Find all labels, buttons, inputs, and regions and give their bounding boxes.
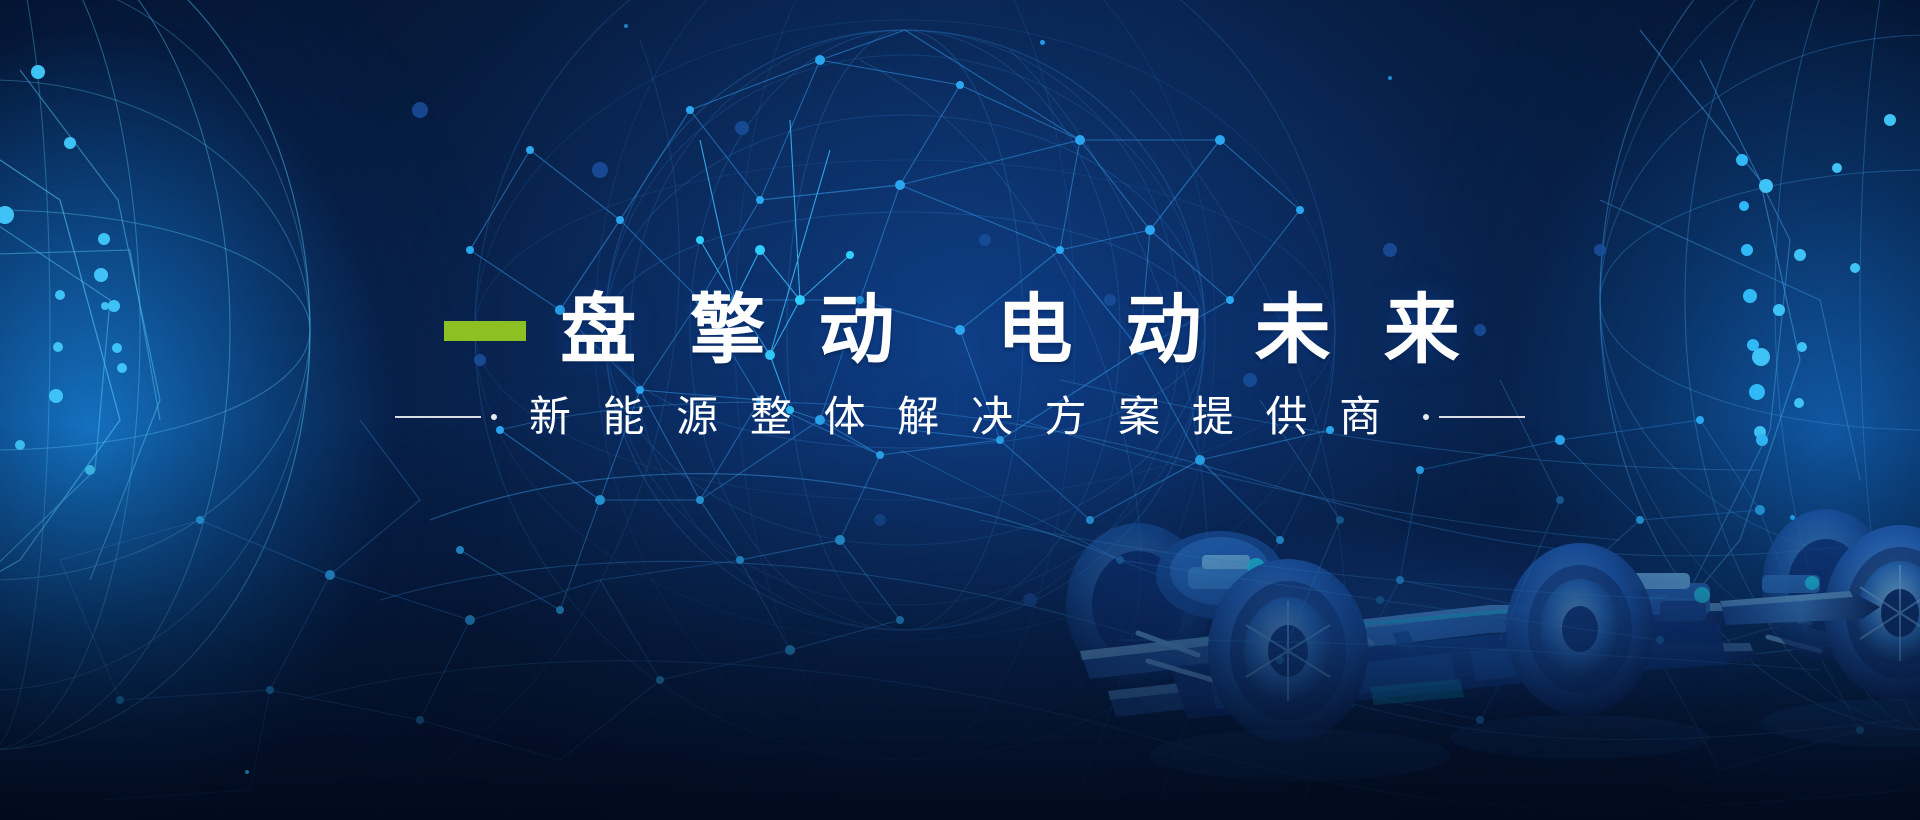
particle-dot bbox=[1388, 76, 1392, 80]
particle-dot bbox=[624, 24, 628, 28]
rule-bar-right bbox=[1439, 416, 1525, 418]
subtitle-row: 新 能 源 整 体 解 决 方 案 提 供 商 bbox=[0, 396, 1920, 438]
rule-dot-left bbox=[491, 414, 497, 420]
rule-bar-left bbox=[395, 416, 481, 418]
particle-dot bbox=[1040, 40, 1045, 45]
subtitle-text: 新 能 源 整 体 解 决 方 案 提 供 商 bbox=[515, 396, 1405, 438]
headline-right-text: 电 动 未 来 bbox=[996, 293, 1475, 369]
green-accent-bar bbox=[444, 321, 526, 341]
particle-dot bbox=[1790, 515, 1795, 520]
headline-left-text: 盘 擎 动 bbox=[560, 293, 910, 369]
subtitle-rule-right bbox=[1423, 414, 1525, 420]
rule-dot-right bbox=[1423, 414, 1429, 420]
hero-banner: 盘 擎 动 电 动 未 来 新 能 源 整 体 解 决 方 案 提 供 商 bbox=[0, 0, 1920, 820]
headline: 盘 擎 动 电 动 未 来 bbox=[0, 293, 1920, 369]
subtitle-rule-left bbox=[395, 414, 497, 420]
particle-dot bbox=[245, 770, 249, 774]
